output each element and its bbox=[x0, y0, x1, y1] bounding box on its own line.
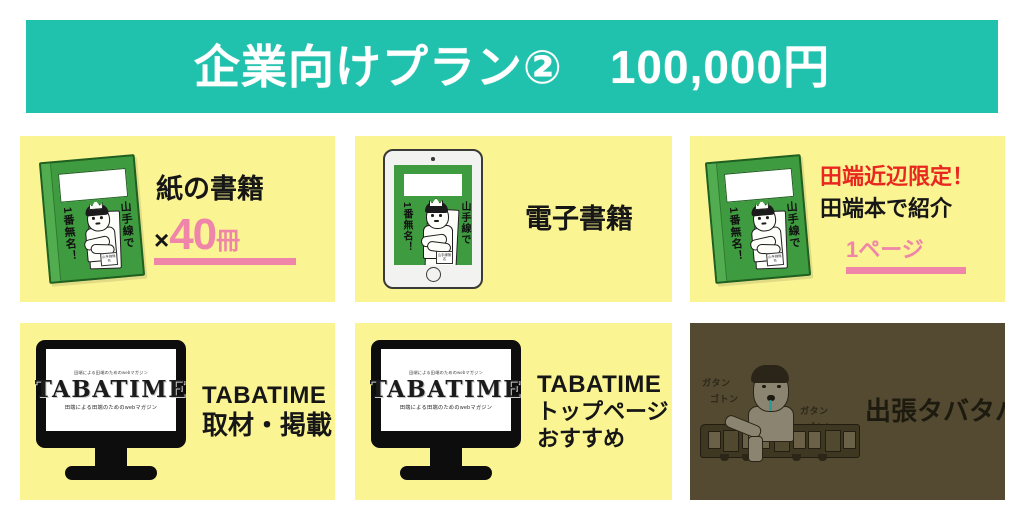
character-figure: 山手線無名 bbox=[744, 202, 790, 271]
card-label-ebook: 電子書籍 bbox=[525, 203, 672, 236]
monitor-illustration: 田端による田端のためのwebマガジン TABATIME 田端による田端のためのw… bbox=[36, 340, 186, 483]
monitor-base bbox=[400, 466, 492, 480]
train-illustration: ガタン ゴトン ガタン ゴトン bbox=[696, 352, 861, 472]
card-label-recommend: おすすめ bbox=[537, 426, 672, 453]
card-tabata-book-feature[interactable]: 山手線で 1番無名！ bbox=[690, 136, 1005, 302]
tabatime-screen-top-text: 田端による田端のためのwebマガジン bbox=[409, 370, 483, 376]
monitor-illustration: 田端による田端のためのwebマガジン TABATIME 田端による田端のためのw… bbox=[371, 340, 521, 483]
tablet-screen: 山手線で 1番無名！ bbox=[394, 165, 472, 265]
card-label-tabata-bar: 出張タバタバー bbox=[865, 396, 1005, 428]
tabatime-screen-bottom-text: 田端による田端のためのwebマガジン bbox=[65, 404, 158, 411]
card-label-toppage: トップページ bbox=[537, 399, 672, 426]
book-title-bar bbox=[58, 168, 128, 203]
tabatime-screen-top-text: 田端による田端のためのwebマガジン bbox=[74, 370, 148, 376]
book-text-left: 1番無名！ bbox=[61, 207, 77, 263]
sfx-text: ゴトン bbox=[710, 392, 739, 405]
book-title-bar bbox=[404, 174, 462, 196]
figure-badge: 山手線無名 bbox=[436, 251, 453, 264]
card-tabata-bar[interactable]: ガタン ゴトン ガタン ゴトン bbox=[690, 323, 1005, 500]
page-count-block: 1ページ bbox=[846, 223, 966, 274]
monitor-screen: 田端による田端のためのwebマガジン TABATIME 田端による田端のためのw… bbox=[381, 349, 511, 431]
monitor-base bbox=[65, 466, 157, 480]
book-illustration: 山手線で 1番無名！ bbox=[44, 158, 140, 280]
tabatime-logo: TABATIME bbox=[370, 378, 523, 401]
tablet-home-button bbox=[426, 267, 441, 282]
card-tabatime-toppage[interactable]: 田端による田端のためのwebマガジン TABATIME 田端による田端のためのw… bbox=[355, 323, 672, 500]
card-label-paper-book: 紙の書籍 bbox=[156, 173, 335, 206]
character-figure: 山手線無名 bbox=[418, 201, 458, 265]
card-label-interview: 取材・掲載 bbox=[202, 410, 335, 442]
plan-poster: 企業向けプラン② 100,000円 山手線で 1番無名！ bbox=[0, 0, 1024, 512]
card-label-tabatime: TABATIME bbox=[537, 370, 672, 399]
card-label-tabatime: TABATIME bbox=[202, 381, 335, 410]
tabatime-screen-bottom-text: 田端による田端のためのwebマガジン bbox=[400, 404, 493, 411]
book-text-right: 山手線で bbox=[459, 201, 469, 245]
book-illustration: 山手線で 1番無名！ bbox=[710, 158, 806, 280]
quantity-number: 40 bbox=[169, 215, 216, 255]
monitor-screen: 田端による田端のためのwebマガジン TABATIME 田端による田端のためのw… bbox=[46, 349, 176, 431]
book-text-left: 1番無名！ bbox=[727, 207, 743, 263]
quantity-block: × 40 冊 bbox=[154, 209, 296, 265]
card-label-feature: 田端本で紹介 bbox=[820, 196, 1005, 223]
card-paper-book[interactable]: 山手線で 1番無名！ bbox=[20, 136, 335, 302]
pink-underline bbox=[154, 258, 296, 265]
card-label-pages: 1ページ bbox=[846, 237, 966, 264]
figure-badge: 山手線無名 bbox=[100, 252, 118, 266]
card-label-limited: 田端近辺限定！ bbox=[820, 164, 1005, 191]
benefit-card-grid: 山手線で 1番無名！ bbox=[0, 136, 1024, 512]
sfx-text: ガタン bbox=[702, 376, 731, 389]
card-tabatime-interview[interactable]: 田端による田端のためのwebマガジン TABATIME 田端による田端のためのw… bbox=[20, 323, 335, 500]
quantity-unit: 冊 bbox=[216, 221, 240, 256]
sfx-text: ガタン bbox=[800, 404, 829, 417]
tablet-illustration: 山手線で 1番無名！ bbox=[383, 149, 483, 289]
pink-underline bbox=[846, 267, 966, 274]
figure-badge: 山手線無名 bbox=[766, 252, 784, 266]
character-figure: 山手線無名 bbox=[78, 202, 124, 271]
tabatime-logo: TABATIME bbox=[35, 378, 188, 401]
quantity-prefix: × bbox=[154, 225, 169, 256]
tablet-camera-icon bbox=[431, 157, 435, 161]
book-title-bar bbox=[724, 168, 794, 203]
card-ebook[interactable]: 山手線で 1番無名！ bbox=[355, 136, 672, 302]
header-banner: 企業向けプラン② 100,000円 bbox=[26, 20, 998, 113]
page-title: 企業向けプラン② 100,000円 bbox=[194, 44, 830, 90]
book-text-left: 1番無名！ bbox=[401, 202, 411, 253]
